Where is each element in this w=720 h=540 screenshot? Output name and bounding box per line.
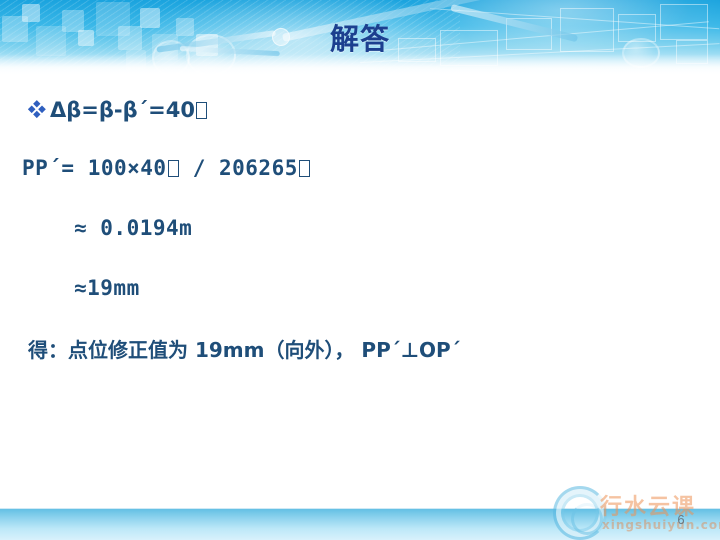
- missing-glyph-box: [196, 102, 207, 119]
- page-title: 解答: [0, 16, 720, 58]
- conclusion-line: 得：点位修正值为 19mm（向外）， PP´⊥OP´: [28, 334, 461, 363]
- equation-line-3: ≈ 0.0194m: [74, 216, 192, 240]
- equation-line-1: Δβ=β-β´=40: [50, 98, 208, 122]
- slide-content: Δβ=β-β´=40 PP´= 100×40 / 206265 ≈ 0.0194…: [0, 76, 720, 496]
- equation-line-4: ≈19mm: [74, 276, 140, 300]
- header-banner: 解答: [0, 0, 720, 76]
- equation-line-2-part1: PP´= 100×40: [22, 156, 167, 180]
- diamond-cluster-bullet-icon: [28, 100, 48, 120]
- footer-band: [0, 508, 720, 540]
- page-number: 6: [670, 512, 692, 527]
- equation-line-2: PP´= 100×40 / 206265: [22, 156, 311, 180]
- missing-glyph-box: [299, 160, 310, 177]
- slide-root: 解答 Δβ=β-β´=40 PP´= 100×40 / 206265 ≈ 0.0…: [0, 0, 720, 540]
- equation-line-2-part2: / 206265: [180, 156, 298, 180]
- equation-line-1-text: Δβ=β-β´=40: [50, 98, 195, 122]
- missing-glyph-box: [168, 160, 179, 177]
